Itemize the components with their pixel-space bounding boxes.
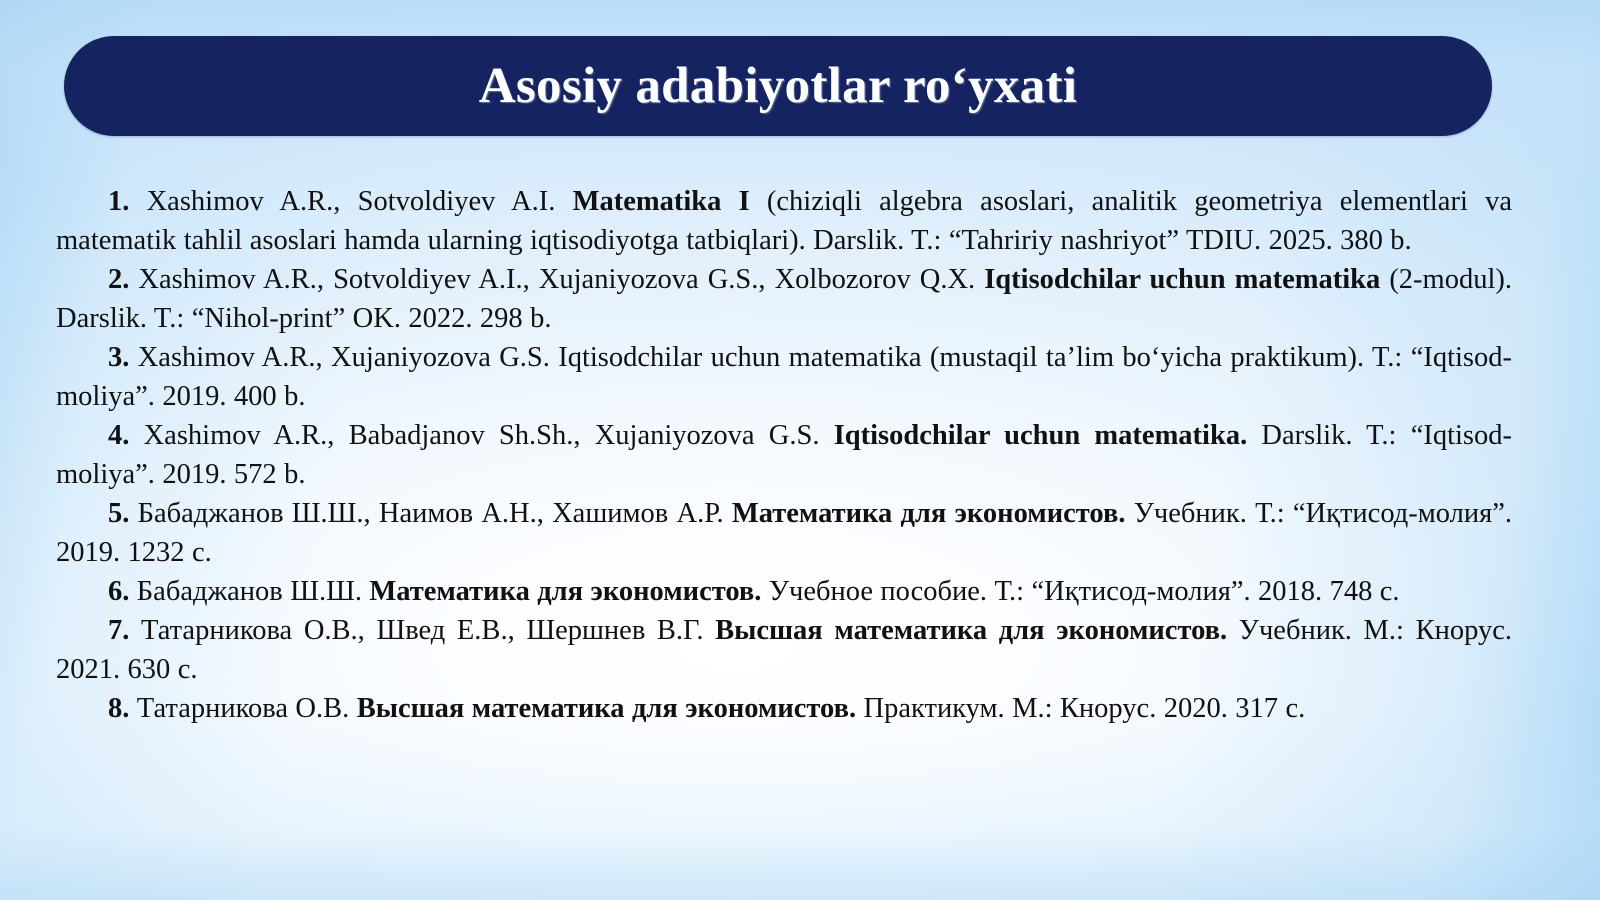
reference-body-text: Бабаджанов Ш.Ш., Наимов А.Н., Хашимов А.… [129, 498, 731, 529]
reference-body-text: Xashimov A.R., Sotvoldiyev A.I., Xujaniy… [129, 264, 984, 295]
reference-item: 3. Xashimov A.R., Xujaniyozova G.S. Iqti… [56, 338, 1512, 416]
reference-title-text: Iqtisodchilar uchun matematika. [834, 420, 1248, 451]
reference-body-text: Бабаджанов Ш.Ш. [129, 576, 369, 607]
reference-number: 3. [108, 342, 129, 373]
reference-item: 1. Xashimov A.R., Sotvoldiyev A.I. Matem… [56, 182, 1512, 260]
reference-number: 5. [108, 498, 129, 529]
reference-title-text: Высшая математика для экономистов. [715, 615, 1227, 646]
reference-body-text: Учебное пособие. Т.: “Иқтисод-молия”. 20… [761, 576, 1399, 607]
reference-body-text: Татарникова О.В., Швед Е.В., Шершнев В.Г… [129, 615, 715, 646]
reference-number: 2. [108, 264, 129, 295]
reference-list: 1. Xashimov A.R., Sotvoldiyev A.I. Matem… [56, 182, 1512, 728]
reference-body-text: Татарникова О.В. [129, 693, 356, 724]
reference-title-text: Matematika I [573, 186, 750, 217]
reference-title-text: Математика для экономистов. [732, 498, 1126, 529]
slide-canvas: Asosiy adabiyotlar ro‘yxati 1. Xashimov … [0, 0, 1600, 900]
reference-item: 5. Бабаджанов Ш.Ш., Наимов А.Н., Хашимов… [56, 494, 1512, 572]
reference-item: 8. Татарникова О.В. Высшая математика дл… [56, 689, 1512, 728]
reference-number: 7. [108, 615, 129, 646]
reference-number: 6. [108, 576, 129, 607]
reference-item: 2. Xashimov A.R., Sotvoldiyev A.I., Xuja… [56, 260, 1512, 338]
reference-title-text: Iqtisodchilar uchun matematika [984, 264, 1380, 295]
page-title: Asosiy adabiyotlar ro‘yxati [479, 61, 1077, 112]
reference-body-text: Практикум. М.: Кнорус. 2020. 317 с. [856, 693, 1305, 724]
reference-title-text: Математика для экономистов. [369, 576, 761, 607]
reference-item: 4. Xashimov A.R., Babadjanov Sh.Sh., Xuj… [56, 416, 1512, 494]
reference-item: 6. Бабаджанов Ш.Ш. Математика для эконом… [56, 572, 1512, 611]
reference-title-text: Высшая математика для экономистов. [357, 693, 856, 724]
reference-number: 8. [108, 693, 129, 724]
reference-body-text: Xashimov A.R., Sotvoldiyev A.I. [129, 186, 572, 217]
reference-number: 1. [108, 186, 129, 217]
reference-body-text: Xashimov A.R., Babadjanov Sh.Sh., Xujani… [129, 420, 833, 451]
slide-title-banner: Asosiy adabiyotlar ro‘yxati [64, 36, 1492, 136]
reference-body-text: Xashimov A.R., Xujaniyozova G.S. Iqtisod… [56, 342, 1512, 412]
reference-number: 4. [108, 420, 129, 451]
reference-item: 7. Татарникова О.В., Швед Е.В., Шершнев … [56, 611, 1512, 689]
